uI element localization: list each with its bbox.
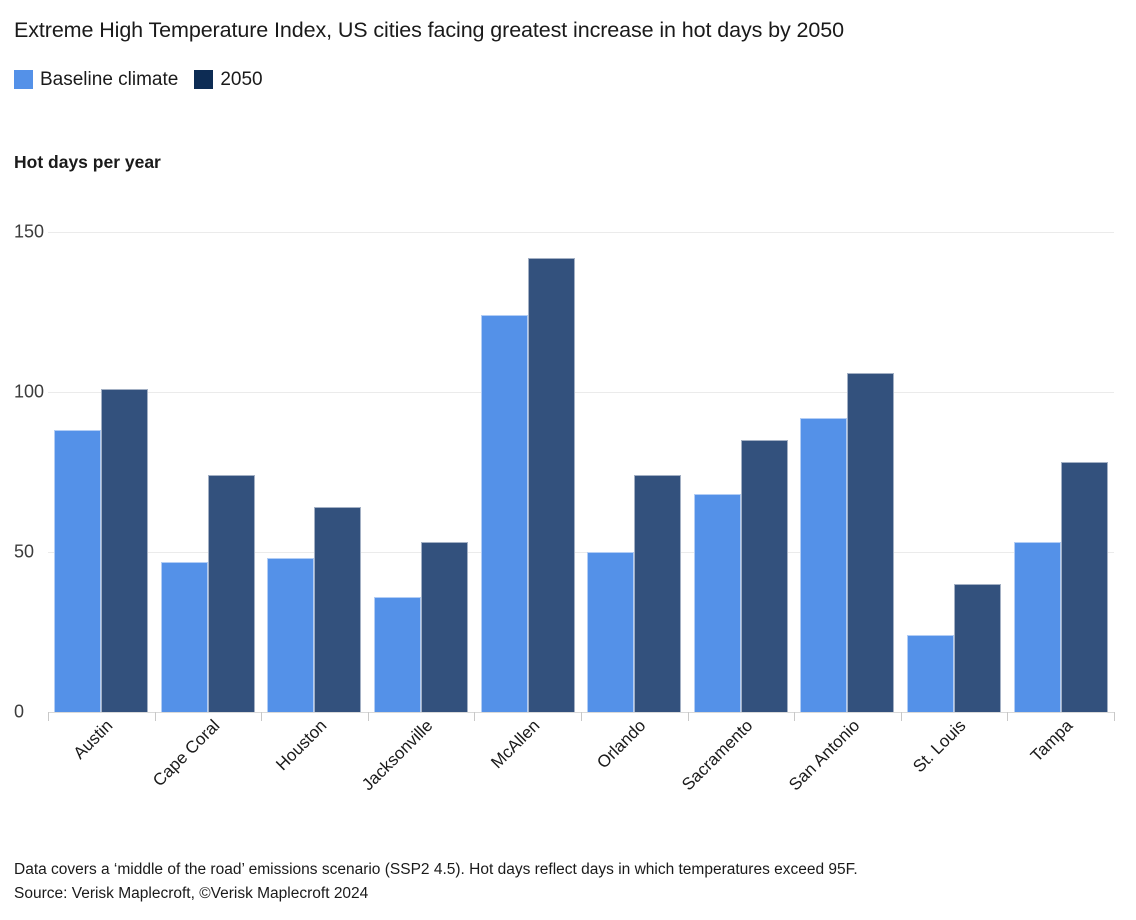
y-tick-label-50: 50 (14, 542, 34, 563)
bar-group (48, 78, 155, 712)
bar-baseline[interactable] (267, 558, 314, 712)
x-tickmark (474, 712, 475, 721)
x-tickmark (581, 712, 582, 721)
bar-baseline[interactable] (54, 430, 101, 712)
bar-future[interactable] (421, 542, 468, 712)
x-tickmark (261, 712, 262, 721)
bar-baseline[interactable] (481, 315, 528, 712)
bar-group (368, 78, 475, 712)
bar-group (474, 78, 581, 712)
bar-future[interactable] (954, 584, 1001, 712)
bar-group (688, 78, 795, 712)
bar-future[interactable] (314, 507, 361, 712)
y-tick-label-100: 100 (14, 382, 44, 403)
bar-baseline[interactable] (587, 552, 634, 712)
bar-group (155, 78, 262, 712)
bars-layer (48, 0, 1114, 790)
footnotes: Data covers a ‘middle of the road’ emiss… (14, 858, 858, 906)
y-tick-label-0: 0 (14, 702, 24, 723)
x-tickmark (901, 712, 902, 721)
x-tickmark (155, 712, 156, 721)
bar-group (261, 78, 368, 712)
bar-baseline[interactable] (800, 418, 847, 712)
bar-future[interactable] (208, 475, 255, 712)
bar-baseline[interactable] (907, 635, 954, 712)
bar-future[interactable] (847, 373, 894, 712)
x-tickmark (1007, 712, 1008, 721)
bar-baseline[interactable] (374, 597, 421, 712)
footnote-line-2: Source: Verisk Maplecroft, ©Verisk Maple… (14, 882, 858, 906)
x-tickmark (794, 712, 795, 721)
plot-area: 050100150 AustinCape CoralHoustonJackson… (0, 0, 1136, 790)
bar-future[interactable] (1061, 462, 1108, 712)
x-tickmark (1114, 712, 1115, 721)
bar-group (794, 78, 901, 712)
y-tick-label-150: 150 (14, 222, 44, 243)
bar-baseline[interactable] (1014, 542, 1061, 712)
x-tickmark (688, 712, 689, 721)
x-tickmark (368, 712, 369, 721)
bar-group (901, 78, 1008, 712)
bar-future[interactable] (741, 440, 788, 712)
bar-group (1007, 78, 1114, 712)
x-tickmark (48, 712, 49, 721)
bar-baseline[interactable] (161, 562, 208, 712)
footnote-line-1: Data covers a ‘middle of the road’ emiss… (14, 858, 858, 882)
bar-future[interactable] (528, 258, 575, 712)
bar-future[interactable] (634, 475, 681, 712)
bar-baseline[interactable] (694, 494, 741, 712)
chart-page: Extreme High Temperature Index, US citie… (0, 0, 1136, 920)
bar-future[interactable] (101, 389, 148, 712)
bar-group (581, 78, 688, 712)
